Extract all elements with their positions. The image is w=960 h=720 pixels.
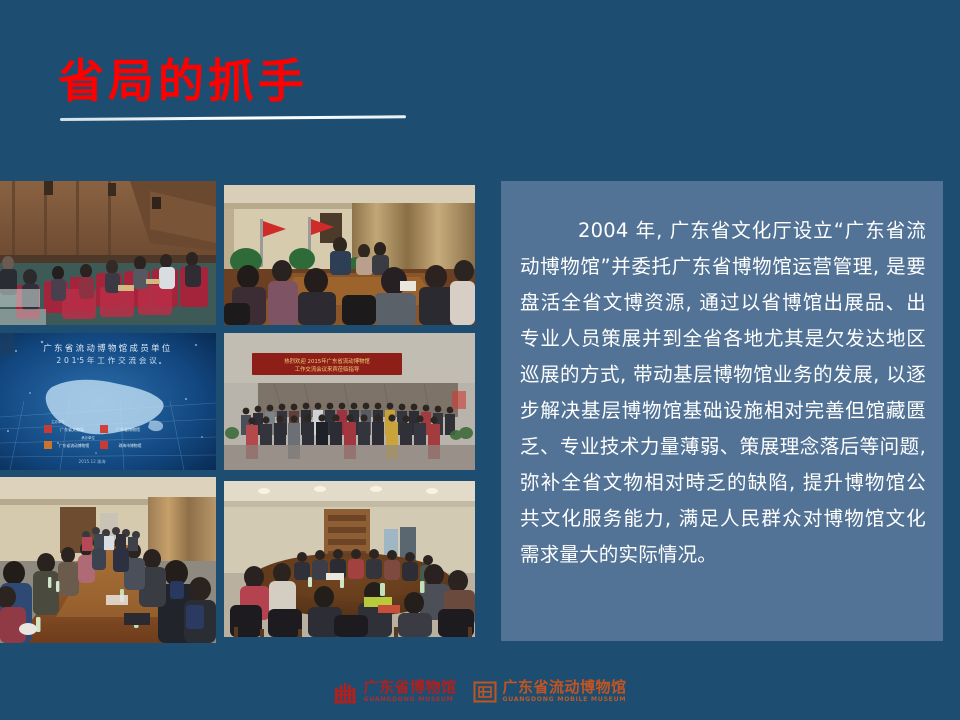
svg-text:2015.12 珠海: 2015.12 珠海: [78, 458, 106, 465]
svg-text:广东省文物局: 广东省文物局: [60, 426, 84, 432]
photo-auditorium-lecture: [0, 181, 216, 325]
guangdong-mobile-museum-mark-icon: [473, 680, 497, 704]
logo-guangdong-museum-cn: 广东省博物馆: [363, 680, 456, 695]
svg-text:珠海市博物馆: 珠海市博物馆: [119, 443, 142, 448]
svg-text:2015年工作交流会议: 2015年工作交流会议: [56, 355, 159, 365]
footer-logos: 广东省博物馆 GUANGDONG MUSEUM 广东省流动博物馆 GUANGDO…: [0, 672, 960, 712]
slide-canvas: 省局的抓手: [0, 0, 960, 720]
guangdong-museum-mark-icon: [333, 680, 357, 704]
svg-text:广东省流动博物馆: 广东省流动博物馆: [59, 443, 90, 448]
photo-long-table-meeting: [0, 477, 216, 643]
svg-text:承办单位: 承办单位: [81, 435, 95, 440]
description-text: 2004 年, 广东省文化厅设立“广东省流动博物馆”并委托广东省博物馆运营管理,…: [520, 213, 926, 573]
photo-conference-backdrop: 广东省流动博物馆成员单位 2015年工作交流会议 主办单位 广东省文物局 广东省…: [0, 333, 216, 470]
logo-guangdong-mobile-museum-cn: 广东省流动博物馆: [503, 680, 627, 695]
title-underline: [60, 115, 406, 121]
logo-guangdong-mobile-museum: 广东省流动博物馆 GUANGDONG MOBILE MUSEUM: [473, 680, 627, 704]
svg-text:热烈欢迎 2015年广东省流动博物馆: 热烈欢迎 2015年广东省流动博物馆: [284, 357, 370, 365]
svg-text:工作交流会议来宾莅临指导: 工作交流会议来宾莅临指导: [295, 365, 360, 373]
description-panel: 2004 年, 广东省文化厅设立“广东省流动博物馆”并委托广东省博物馆运营管理,…: [501, 181, 943, 641]
photo-group-photo: 热烈欢迎 2015年广东省流动博物馆 工作交流会议来宾莅临指导: [224, 333, 475, 470]
logo-guangdong-museum-en: GUANGDONG MUSEUM: [363, 697, 456, 703]
logo-guangdong-museum: 广东省博物馆 GUANGDONG MUSEUM: [333, 680, 456, 704]
svg-text:主办单位: 主办单位: [51, 419, 65, 424]
page-title: 省局的抓手: [58, 56, 308, 107]
photo-round-table-meeting: [224, 481, 475, 637]
photo-grid: 广东省流动博物馆成员单位 2015年工作交流会议 主办单位 广东省文物局 广东省…: [0, 181, 480, 643]
svg-text:广东省博物馆: 广东省博物馆: [116, 426, 140, 432]
logo-guangdong-mobile-museum-en: GUANGDONG MOBILE MUSEUM: [503, 697, 627, 703]
svg-text:广东省流动博物馆成员单位: 广东省流动博物馆成员单位: [43, 343, 172, 353]
photo-conference-room-flags: [224, 185, 475, 325]
